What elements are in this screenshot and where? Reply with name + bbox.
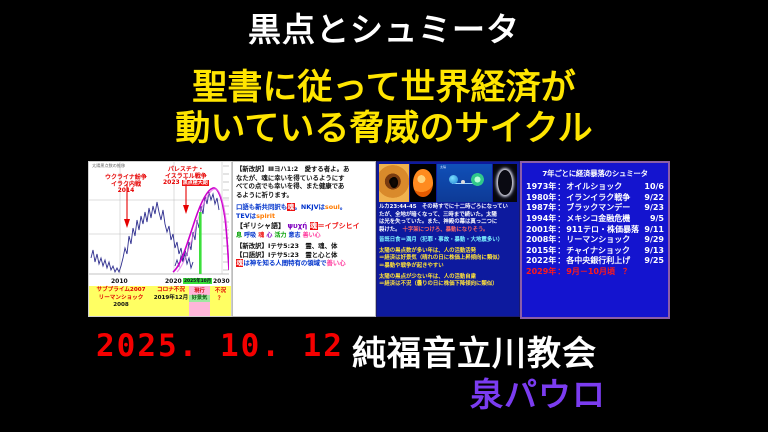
table-row: 2008年 ： リーマンショック 9/29 bbox=[526, 235, 664, 246]
table-row: 2022年 ： 各中央銀行利上げ 9/25 bbox=[526, 256, 664, 267]
row-sep: ： bbox=[556, 182, 566, 193]
row-sep: ： bbox=[556, 267, 566, 278]
gloss-3: 心 bbox=[266, 232, 272, 239]
axis-tick-2010: 2010 bbox=[111, 278, 128, 285]
gloss-6: 善い心 bbox=[303, 232, 321, 239]
row-year: 1987年 bbox=[526, 203, 556, 214]
scripture-line-1: 【新改訳】Ⅲヨハ1:2 愛する者よ。あ bbox=[236, 165, 372, 174]
luke-line-2: たが、全地が暗くなって、三時まで続いた。太陽 bbox=[379, 212, 517, 220]
row-year: 1994年 bbox=[526, 214, 556, 225]
chart-corner-note: 太陽黒点数の推移 bbox=[92, 164, 125, 169]
panel-sun-eclipse[interactable]: 太陽 ルカ23:44-45 その時すでに十二時ごろになってい たが、全地が暗くな… bbox=[376, 161, 520, 317]
diagram-caption-sun: 太陽 bbox=[440, 165, 446, 169]
nkjv-soul: soul bbox=[325, 203, 340, 211]
row-year: 2008年 bbox=[526, 235, 556, 246]
chart-container: 太陽黒点数の推移 ウクライナ紛争 イラク内戦 2014 パレスチナ・ イスラエル… bbox=[89, 162, 231, 316]
row-event: メキシコ金融危機 bbox=[566, 214, 650, 225]
row-date: 10/6 bbox=[644, 182, 664, 193]
table-row: 2001年 ： 911テロ・株価暴落 9/11 bbox=[526, 225, 664, 236]
row-year: 1980年 bbox=[526, 193, 556, 204]
panel-shmita-table[interactable]: 7年ごとに経済暴落のシュミータ 1973年 ： オイルショック 10/6 198… bbox=[520, 161, 670, 319]
soul-kanji-highlight-1: 魂 bbox=[287, 203, 294, 211]
row-date: 9/11 bbox=[644, 225, 664, 236]
page-title-sub-line1: 聖書に従って世界経済が bbox=[0, 68, 768, 109]
strip-current: 現行 好景気 bbox=[189, 286, 210, 316]
row-date: 9/25 bbox=[644, 256, 664, 267]
page-title-main: 黒点とシュミータ bbox=[0, 13, 768, 48]
row-event: オイルショック bbox=[566, 182, 644, 193]
row-event: 各中央銀行利上げ bbox=[566, 256, 644, 267]
axis-tick-2030: 2030 bbox=[213, 278, 230, 285]
earth-icon bbox=[449, 175, 458, 184]
strip-next-line1: 不況 bbox=[210, 288, 231, 296]
row-sep: ： bbox=[556, 246, 566, 257]
shmita-table: 7年ごとに経済暴落のシュミータ 1973年 ： オイルショック 10/6 198… bbox=[522, 163, 668, 317]
sun-panel-text: ルカ23:44-45 その時すでに十二時ごろになってい たが、全地が暗くなって、… bbox=[379, 204, 517, 289]
slide-root: 黒点とシュミータ 聖書に従って世界経済が 動いている脅威のサイクル bbox=[0, 0, 768, 432]
panel-scripture-text[interactable]: 【新改訳】Ⅲヨハ1:2 愛する者よ。あ なたが、魂に幸いを得ているようにす べて… bbox=[232, 161, 376, 317]
row-sep: ： bbox=[556, 193, 566, 204]
table-row: 1973年 ： オイルショック 10/6 bbox=[526, 182, 664, 193]
gloss-2: 魂 bbox=[258, 232, 264, 239]
row-date: 9/29 bbox=[644, 235, 664, 246]
page-title-sub-line2: 動いている脅威のサイクル bbox=[0, 109, 768, 150]
strip-corona: コロナ不況 2019年12月 bbox=[153, 286, 189, 316]
axis-tick-2020: 2020 bbox=[165, 278, 182, 285]
luke-line-4: 裂けた。 十字架につけろ、暴動になりそう。 bbox=[379, 227, 517, 235]
shmita-table-title: 7年ごとに経済暴落のシュミータ bbox=[526, 168, 664, 179]
strip-subprime-year: 2008 bbox=[89, 302, 153, 310]
conclusion-accent: 善い心 bbox=[326, 259, 345, 267]
greek-row: 【ギリシャ語】 ψυχή 魂＝イブシヒイ bbox=[236, 222, 372, 232]
row-sep: ： bbox=[556, 225, 566, 236]
thess-line-1: 【新改訳】Ⅰテサ5:23 霊、魂、体 bbox=[236, 242, 372, 251]
soul-kanji-highlight-2: 魂 bbox=[310, 222, 318, 230]
row-date: 9/5 bbox=[650, 214, 664, 225]
scripture-body: 【新改訳】Ⅲヨハ1:2 愛する者よ。あ なたが、魂に幸いを得ているようにす べて… bbox=[233, 162, 375, 268]
eclipse-diagram-icon: 太陽 bbox=[437, 164, 492, 202]
scripture-line-3: べての点でも幸いを得、また健康であ bbox=[236, 182, 372, 191]
scripture-line-4: るように祈ります。 bbox=[236, 191, 372, 200]
panel-sunspot-chart[interactable]: 太陽黒点数の推移 ウクライナ紛争 イラク内戦 2014 パレスチナ・ イスラエル… bbox=[88, 161, 232, 317]
table-row-forecast: 2029年 ： 9月－10月頃 ？ bbox=[526, 267, 664, 278]
row-year: 2001年 bbox=[526, 225, 556, 236]
greek-label: 【ギリシャ語】 bbox=[236, 222, 285, 230]
row-sep: ： bbox=[556, 235, 566, 246]
low-sunspot-line-1: 太陽の黒点が少ない年は、人の活動自粛 bbox=[379, 274, 517, 282]
strip-current-line2: 好景気 bbox=[189, 295, 210, 302]
strip-subprime-line2: リーマンショック bbox=[89, 295, 153, 303]
greek-gloss-row: 息 呼吸 魂 心 活力 意志 善い心 bbox=[236, 232, 372, 240]
row-event: リーマンショック bbox=[566, 235, 644, 246]
table-row: 1994年 ： メキシコ金融危機 9/5 bbox=[526, 214, 664, 225]
thess-line-2: 【口語訳】Ⅰテサ5:23 霊と心と体 bbox=[236, 251, 372, 260]
table-row: 2015年 ： チャイナショック 9/13 bbox=[526, 246, 664, 257]
gloss-1: 呼吸 bbox=[244, 232, 256, 239]
annotation-2014-year: 2014 bbox=[105, 188, 147, 195]
row-event: 9月－10月頃 ？ bbox=[566, 267, 664, 278]
table-row: 1980年 ： イランイラク戦争 9/22 bbox=[526, 193, 664, 204]
high-sunspot-line-3: ＝暴動や戦争が起きやすい bbox=[379, 263, 517, 271]
row-year: 1973年 bbox=[526, 182, 556, 193]
gloss-0: 息 bbox=[236, 232, 242, 239]
greek-word: ψυχή bbox=[287, 222, 307, 230]
strip-corona-line1: コロナ不況 bbox=[153, 287, 189, 295]
strip-corona-line2: 2019年12月 bbox=[153, 295, 189, 303]
strip-current-line1: 現行 bbox=[194, 288, 204, 294]
row-sep: ： bbox=[556, 203, 566, 214]
strip-next-line2: ？ bbox=[210, 296, 231, 304]
eclipse-note: 皆既日食＝満月（犯罪・事故・暴動・大地震多い） bbox=[379, 237, 517, 245]
footer-date: 2025. 10. 12 bbox=[96, 328, 344, 364]
strip-right-group: 現行 好景気 不況 ？ bbox=[189, 286, 231, 316]
total-eclipse-photo-icon bbox=[493, 164, 517, 202]
tev-spirit: spirit bbox=[256, 212, 275, 220]
annotation-2023-year: 2023 黒点極大期 bbox=[163, 180, 209, 187]
gloss-5: 意志 bbox=[289, 232, 301, 239]
conclusion-text: は神を知る人間特有の領域で bbox=[243, 259, 326, 267]
row-event: 911テロ・株価暴落 bbox=[566, 225, 644, 236]
sun-photo-icon bbox=[410, 164, 436, 202]
luke-line-4-red: 十字架につけろ、暴動になりそう。 bbox=[402, 227, 488, 233]
table-row: 1987年 ： ブラックマンデー 9/23 bbox=[526, 203, 664, 214]
corona-glow-icon bbox=[471, 173, 484, 186]
row-date: 9/23 bbox=[644, 203, 664, 214]
strip-subprime-line1: サブプライム2007 bbox=[89, 287, 153, 295]
annotation-2023-badge: 黒点極大期 bbox=[182, 180, 209, 186]
row-event: ブラックマンデー bbox=[566, 203, 644, 214]
chart-now-marker-label: 2025年10月 bbox=[183, 278, 212, 284]
row-year: 2015年 bbox=[526, 246, 556, 257]
row-year: 2029年 bbox=[526, 267, 556, 278]
greek-transliteration: ＝イブシヒイ bbox=[318, 222, 360, 230]
row-date: 9/13 bbox=[644, 246, 664, 257]
luke-line-1: ルカ23:44-45 その時すでに十二時ごろになってい bbox=[379, 204, 517, 212]
page-title-sub: 聖書に従って世界経済が 動いている脅威のサイクル bbox=[0, 68, 768, 149]
strip-subprime: サブプライム2007 リーマンショック 2008 bbox=[89, 286, 153, 316]
sun-image-strip: 太陽 bbox=[379, 164, 517, 202]
chart-annotation-2023: パレスチナ・ イスラエル戦争 2023 黒点極大期 bbox=[163, 167, 209, 187]
row-date: 9/22 bbox=[644, 193, 664, 204]
sunspot-photo-icon bbox=[379, 164, 409, 202]
translation-note-line1: 口語も新共同訳も魂。NKJVはsoul。 bbox=[236, 203, 372, 212]
footer-speaker: 泉パウロ bbox=[470, 368, 606, 416]
chart-plot-area: 太陽黒点数の推移 ウクライナ紛争 イラク内戦 2014 パレスチナ・ イスラエル… bbox=[89, 162, 231, 278]
gloss-4: 活力 bbox=[274, 232, 286, 239]
row-event: チャイナショック bbox=[566, 246, 644, 257]
row-year: 2022年 bbox=[526, 256, 556, 267]
row-event: イランイラク戦争 bbox=[566, 193, 644, 204]
row-sep: ： bbox=[556, 214, 566, 225]
row-sep: ： bbox=[556, 256, 566, 267]
luke-line-3: は光を失っていた。また、神殿の幕は真っ二つに bbox=[379, 219, 517, 227]
conclusion-row: 魂は神を知る人間特有の領域で善い心 bbox=[236, 259, 372, 268]
chart-annotation-2014: ウクライナ紛争 イラク内戦 2014 bbox=[105, 175, 147, 195]
strip-next: 不況 ？ bbox=[210, 286, 231, 316]
low-sunspot-line-2: ＝経済は不況（曇りの日に株価下降傾向に類似） bbox=[379, 281, 517, 289]
translation-note-line2: TEVはspirit bbox=[236, 212, 372, 221]
chart-timeline-strip: サブプライム2007 リーマンショック 2008 コロナ不況 2019年12月 … bbox=[89, 286, 231, 316]
high-sunspot-line-2: ＝経済は好景気（晴れの日に株価上昇傾向に類似） bbox=[379, 255, 517, 263]
